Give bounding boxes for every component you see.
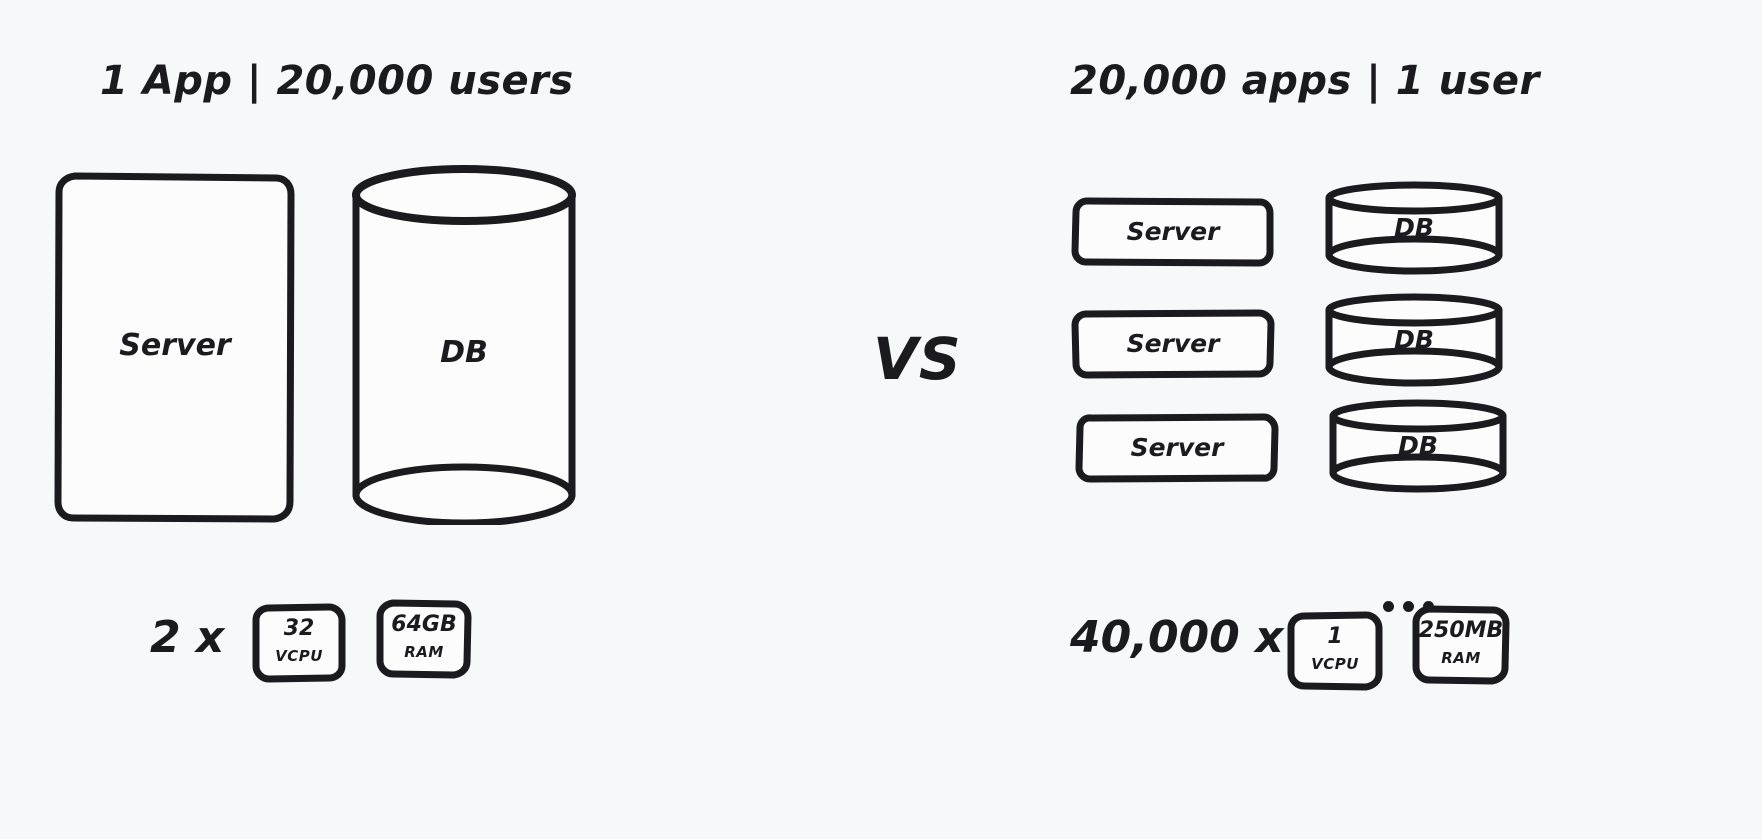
left-chip-vcpu-unit: VCPU (250, 647, 348, 665)
left-chip-ram-value: 64GB (374, 612, 474, 637)
right-database-cylinder-3: DB (1326, 398, 1510, 494)
left-server-box: Server (52, 170, 298, 526)
left-database-cylinder: DB (350, 165, 578, 525)
right-chip-vcpu: 1 VCPU (1285, 610, 1385, 692)
right-chip-vcpu-value: 1 (1285, 624, 1385, 649)
left-column-title: 1 App | 20,000 users (100, 58, 574, 104)
server-box-shape (1074, 412, 1280, 484)
right-chip-vcpu-unit: VCPU (1285, 655, 1385, 673)
right-database-cylinder-1: DB (1322, 180, 1506, 276)
server-box-shape (1070, 308, 1276, 380)
server-box-shape (1070, 196, 1276, 268)
left-chip-ram: 64GB RAM (374, 598, 474, 680)
versus-label: VS (873, 325, 962, 393)
chip-shape (250, 602, 348, 684)
left-chip-ram-unit: RAM (374, 643, 474, 661)
chip-shape (1285, 610, 1385, 692)
right-server-box-1: Server (1070, 196, 1276, 268)
right-chip-ram-unit: RAM (1410, 649, 1512, 667)
right-chip-ram-value: 250MB (1410, 618, 1512, 643)
server-box-shape (52, 170, 298, 526)
right-chip-ram: 250MB RAM (1410, 604, 1512, 686)
database-cylinder-shape (1326, 398, 1510, 494)
database-cylinder-shape (1322, 180, 1506, 276)
right-database-cylinder-2: DB (1322, 292, 1506, 388)
database-cylinder-shape (1322, 292, 1506, 388)
right-column-title: 20,000 apps | 1 user (1070, 58, 1540, 104)
database-cylinder-shape (350, 165, 578, 525)
left-multiplier: 2 x (150, 612, 224, 663)
left-chip-vcpu-value: 32 (250, 616, 348, 641)
diagram-canvas: 1 App | 20,000 users Server DB VS 20,000… (0, 0, 1762, 839)
right-server-box-3: Server (1074, 412, 1280, 484)
right-server-box-2: Server (1070, 308, 1276, 380)
chip-shape (374, 598, 474, 680)
chip-shape (1410, 604, 1512, 686)
right-multiplier: 40,000 x (1070, 612, 1284, 663)
left-chip-vcpu: 32 VCPU (250, 602, 348, 684)
